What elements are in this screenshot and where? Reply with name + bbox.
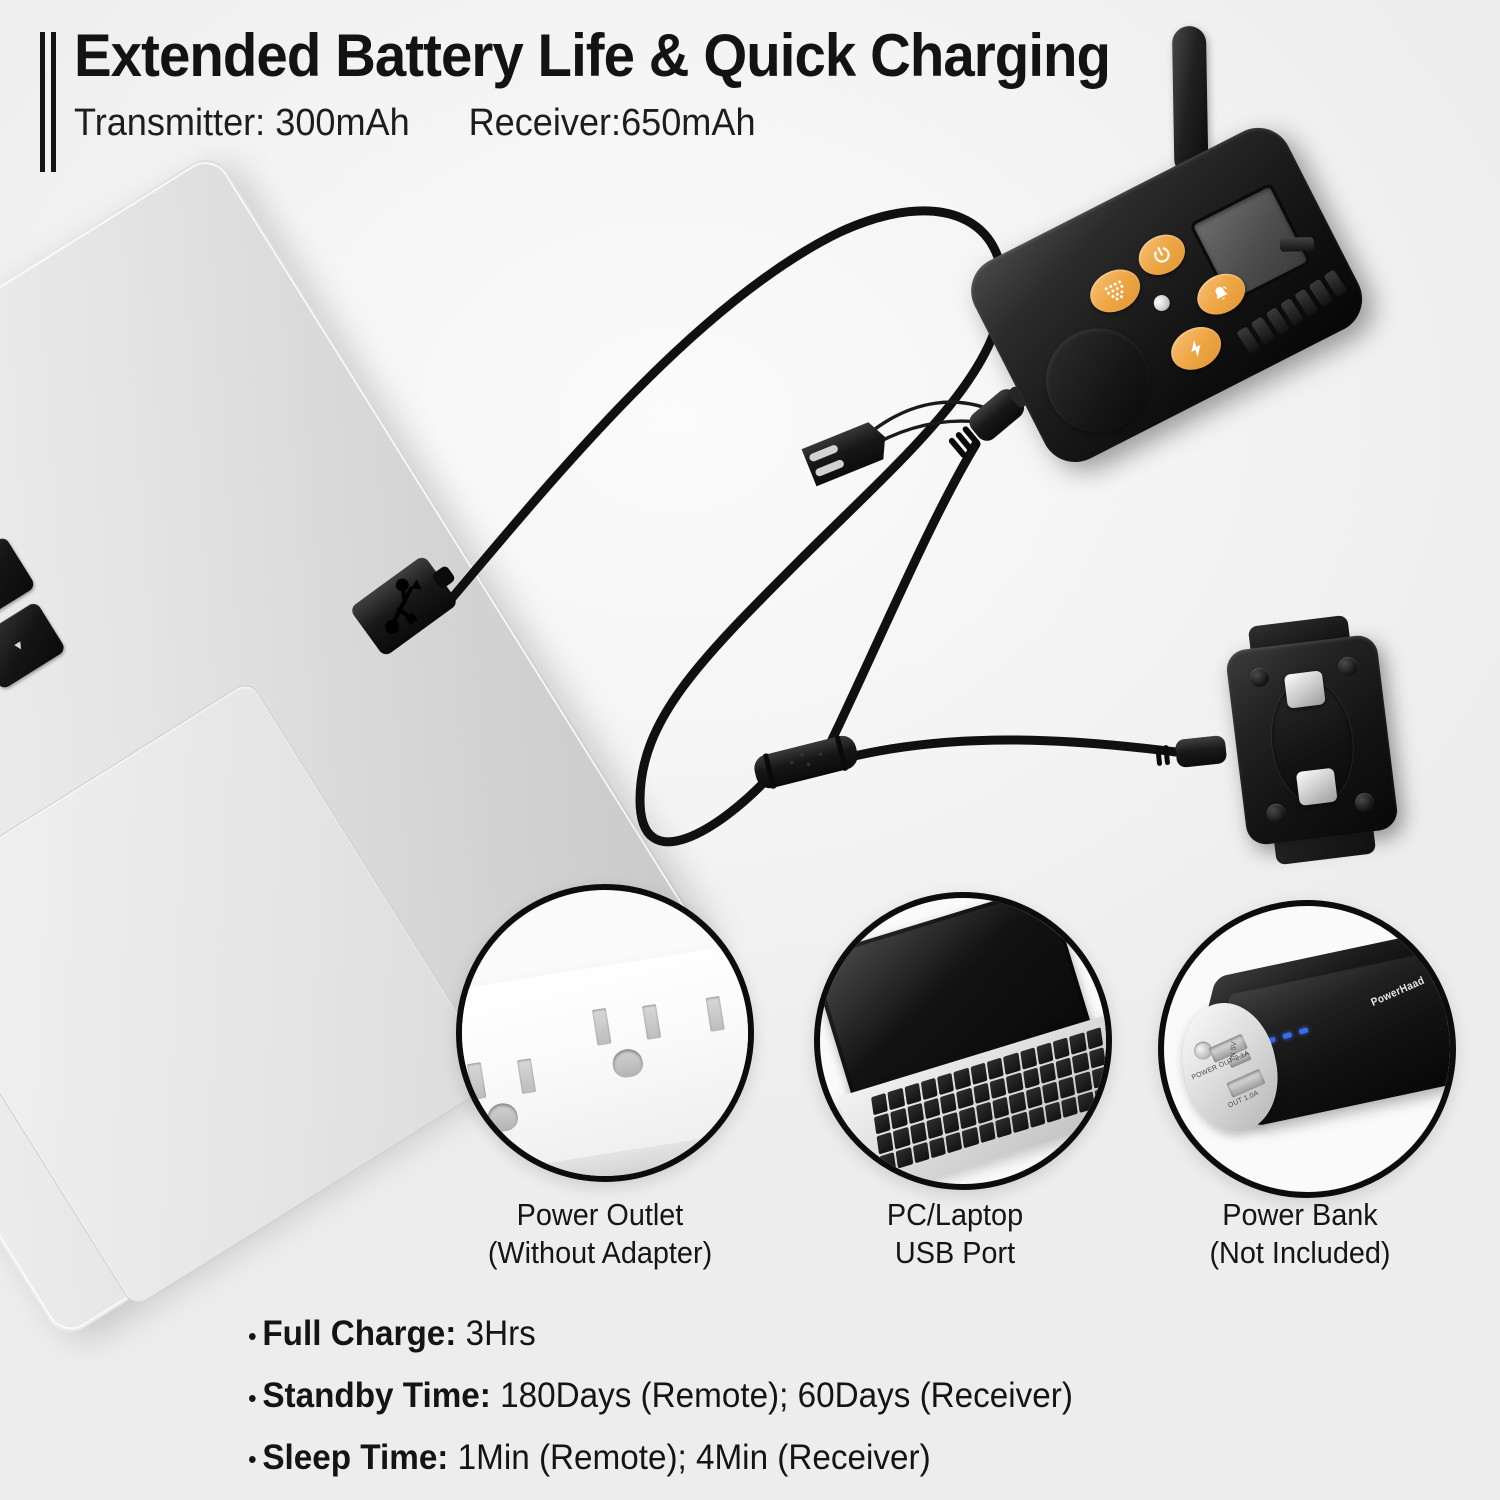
contact-probe-bottom bbox=[1296, 768, 1338, 806]
rubber-dust-cap bbox=[802, 418, 893, 486]
vibration-icon bbox=[1101, 277, 1130, 305]
caption-line-2: (Not Included) bbox=[1142, 1234, 1458, 1272]
power-bank-brand: PowerHaad bbox=[1370, 975, 1427, 1009]
screw-top-right bbox=[1337, 656, 1358, 677]
spec-item-standby-time: •Standby Time: 180Days (Remote); 60Days … bbox=[248, 1366, 1388, 1428]
level-dial[interactable] bbox=[1028, 311, 1168, 451]
status-led bbox=[1151, 292, 1173, 314]
vibration-button[interactable] bbox=[1083, 261, 1147, 320]
screw-bottom-right bbox=[1354, 792, 1375, 813]
mini-laptop bbox=[814, 892, 1112, 1190]
callout-pc-laptop-usb bbox=[814, 892, 1112, 1190]
spec-value: 1Min (Remote); 4Min (Receiver) bbox=[458, 1438, 931, 1477]
receiver-charge-plug bbox=[1155, 735, 1228, 770]
spec-item-sleep-time: •Sleep Time: 1Min (Remote); 4Min (Receiv… bbox=[248, 1428, 1388, 1490]
caption-pc-laptop-usb: PC/Laptop USB Port bbox=[802, 1196, 1109, 1272]
bullet-dot: • bbox=[248, 1383, 257, 1413]
side-button[interactable] bbox=[1280, 237, 1314, 252]
spec-label: Standby Time: bbox=[262, 1376, 490, 1415]
power-button[interactable] bbox=[1132, 227, 1192, 283]
caption-line-1: PC/Laptop bbox=[802, 1196, 1109, 1234]
contact-probe-top bbox=[1284, 670, 1326, 708]
caption-power-bank: Power Bank (Not Included) bbox=[1142, 1196, 1458, 1272]
lightning-icon bbox=[1182, 334, 1210, 363]
callout-power-outlet bbox=[456, 884, 754, 1182]
bullet-dot: • bbox=[248, 1321, 257, 1351]
spec-value: 180Days (Remote); 60Days (Receiver) bbox=[500, 1376, 1073, 1415]
receiver-collar-unit bbox=[1214, 611, 1410, 870]
caption-line-2: USB Port bbox=[802, 1234, 1109, 1272]
usb-a-connector bbox=[349, 548, 468, 658]
micro-usb-input-label: IN 5V bbox=[1230, 1041, 1238, 1060]
wall-outlet-strip bbox=[456, 934, 754, 1182]
caption-line-2: (Without Adapter) bbox=[433, 1234, 768, 1272]
spec-list: •Full Charge: 3Hrs •Standby Time: 180Day… bbox=[248, 1304, 1448, 1489]
cable-y-splitter bbox=[751, 732, 861, 792]
caption-line-1: Power Bank bbox=[1142, 1196, 1458, 1234]
bell-icon bbox=[1208, 281, 1235, 308]
shock-button[interactable] bbox=[1164, 319, 1228, 378]
caption-power-outlet: Power Outlet (Without Adapter) bbox=[433, 1196, 768, 1272]
spec-label: Sleep Time: bbox=[262, 1438, 448, 1477]
spec-item-full-charge: •Full Charge: 3Hrs bbox=[248, 1304, 1388, 1366]
infographic-canvas: Extended Battery Life & Quick Charging T… bbox=[0, 0, 1500, 1500]
caption-line-1: Power Outlet bbox=[433, 1196, 768, 1234]
receiver-plate bbox=[1225, 633, 1400, 846]
power-bank-device: PowerHaad POWER OUT 2.1A OUT 1.0A IN 5V bbox=[1169, 946, 1456, 1150]
screw-top-left bbox=[1249, 667, 1270, 688]
callout-power-bank: PowerHaad POWER OUT 2.1A OUT 1.0A IN 5V bbox=[1158, 900, 1456, 1198]
bullet-dot: • bbox=[248, 1444, 257, 1474]
spec-label: Full Charge: bbox=[262, 1314, 456, 1353]
power-icon bbox=[1148, 241, 1175, 268]
spec-value: 3Hrs bbox=[466, 1314, 536, 1353]
screw-bottom-left bbox=[1266, 803, 1287, 824]
